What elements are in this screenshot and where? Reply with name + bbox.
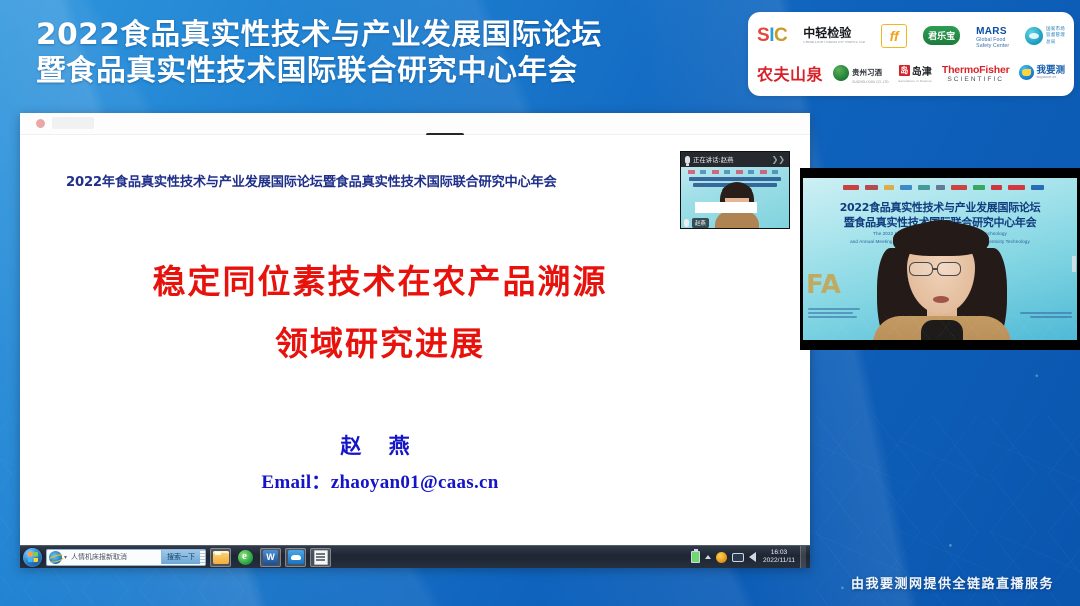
zhongqing-jianyan-logo-sub: CHINA LIGHT INDUSTRY INSPECTION CERTIFIC… xyxy=(803,41,865,44)
search-button[interactable]: 搜索一下 xyxy=(161,550,200,564)
pip-redaction-bar xyxy=(695,202,757,213)
taskbar-item-cloud[interactable] xyxy=(285,548,306,567)
guizhou-xijiu-logo-sub: GUIZHOU XIJIU CO.,LTD xyxy=(852,80,889,84)
event-title: 2022食品真实性技术与产业发展国际论坛 暨食品真实性技术国际联合研究中心年会 xyxy=(36,16,750,88)
guizhou-xijiu-logo: 贵州习酒 GUIZHOU XIJIU CO.,LTD xyxy=(833,56,889,89)
cloud-icon xyxy=(288,550,304,564)
speaker-mouth xyxy=(933,296,949,303)
windows-taskbar[interactable]: ▾ 人情机床报新取消 搜索一下 W xyxy=(20,545,810,568)
record-dot-icon xyxy=(36,119,45,128)
junlebao-logo-cn: 君乐宝 xyxy=(923,26,960,45)
pip-person-body xyxy=(715,211,759,229)
teal-partner-logo-line2: 监督管理 xyxy=(1046,32,1065,39)
ff-logo: ff xyxy=(881,19,907,52)
sic-logo: SIC xyxy=(757,19,787,52)
slide-title: 稳定同位素技术在农产品溯源 领域研究进展 xyxy=(20,251,740,375)
woyaoce-logo: 我要测 woyaoce.cn xyxy=(1019,56,1065,89)
clock-time: 16:03 xyxy=(763,549,795,557)
event-title-line2: 暨食品真实性技术国际联合研究中心年会 xyxy=(36,52,750,88)
clock-date: 2022/11/11 xyxy=(763,557,795,565)
word-icon: W xyxy=(263,550,278,565)
teal-partner-logo-circle-icon xyxy=(1025,27,1043,45)
speaker-backdrop-title-line1: 2022食品真实性技术与产业发展国际论坛 xyxy=(829,199,1051,215)
livestream-watermark: 由我要测网提供全链路直播服务 xyxy=(851,573,1054,592)
speaker-backdrop-logos xyxy=(843,185,1044,190)
internet-explorer-icon xyxy=(49,551,62,564)
pip-speaker-thumbnail[interactable]: 正在讲话:赵燕 ❯❯ 赵燕 xyxy=(680,151,790,229)
taskbar-item-file-explorer[interactable] xyxy=(210,548,231,567)
shared-screen-window[interactable]: 2022年食品真实性技术与产业发展国际论坛暨食品真实性技术国际联合研究中心年会 … xyxy=(20,113,810,568)
browser-e-icon xyxy=(238,550,253,565)
pip-backdrop-logos xyxy=(688,170,782,174)
toolbar-grip-handle[interactable] xyxy=(200,550,205,565)
volume-icon[interactable] xyxy=(749,552,756,562)
zhongqing-jianyan-logo-cn: 中轻检验 xyxy=(803,27,851,39)
show-desktop-button[interactable] xyxy=(800,546,806,568)
sponsor-logo-card: SIC 中轻检验 CHINA LIGHT INDUSTRY INSPECTION… xyxy=(748,12,1074,96)
guizhou-xijiu-logo-cn: 贵州习酒 xyxy=(852,68,882,77)
speaker-glasses-bridge xyxy=(933,268,938,270)
show-hidden-icons-icon[interactable] xyxy=(705,555,711,559)
pip-name-tag: 赵燕 xyxy=(692,218,709,228)
browser-search-bar[interactable]: ▾ 人情机床报新取消 搜索一下 xyxy=(46,549,206,566)
pip-name-overlay: 赵燕 xyxy=(684,218,709,228)
slide-author-name: 赵 燕 xyxy=(20,430,740,460)
taskbar-item-word[interactable]: W xyxy=(260,548,281,567)
pip-video-feed: 赵燕 xyxy=(681,167,790,229)
search-input[interactable]: 人情机床报新取消 xyxy=(69,552,161,562)
taskbar-clock[interactable]: 16:03 2022/11/11 xyxy=(761,549,795,565)
slide-heading: 2022年食品真实性技术与产业发展国际论坛暨食品真实性技术国际联合研究中心年会 xyxy=(66,171,706,190)
chevron-right-icon[interactable]: ❯❯ xyxy=(772,155,785,164)
pip-status-label: 正在讲话:赵燕 xyxy=(693,155,734,164)
nongfu-spring-logo-cn: 农夫山泉 xyxy=(757,61,823,85)
zhongqing-jianyan-logo: 中轻检验 CHINA LIGHT INDUSTRY INSPECTION CER… xyxy=(803,19,865,52)
speaker-backdrop-fa-mark: FA xyxy=(806,270,840,302)
speaker-backdrop-mesh xyxy=(803,314,1077,340)
thermo-fisher-logo: ThermoFisher SCIENTIFIC xyxy=(942,56,1010,89)
pip-person-bangs xyxy=(722,184,752,198)
presentation-chrome-bar xyxy=(20,113,810,135)
sponsor-row-1: SIC 中轻检验 CHINA LIGHT INDUSTRY INSPECTION… xyxy=(757,19,1065,52)
speaker-bangs xyxy=(893,222,989,256)
pip-status-bar: 正在讲话:赵燕 ❯❯ xyxy=(681,152,789,167)
calculator-icon xyxy=(314,550,328,565)
woyaoce-logo-sub: woyaoce.cn xyxy=(1036,75,1065,79)
speaker-glasses-right-lens xyxy=(937,262,961,276)
junlebao-logo: 君乐宝 xyxy=(923,19,960,52)
sic-logo-letter-s: S xyxy=(757,25,769,47)
shimadzu-logo: 岛 岛津 Excellence in Science xyxy=(899,56,932,89)
system-tray[interactable]: 16:03 2022/11/11 xyxy=(691,546,810,568)
taskbar-item-calculator[interactable] xyxy=(310,548,331,567)
event-header: 2022食品真实性技术与产业发展国际论坛 暨食品真实性技术国际联合研究中心年会 … xyxy=(0,0,1080,108)
sic-logo-letter-c: C xyxy=(774,25,787,47)
pip-microphone-icon xyxy=(684,219,689,227)
start-button-icon[interactable] xyxy=(23,548,42,567)
sponsor-row-2: 农夫山泉 贵州习酒 GUIZHOU XIJIU CO.,LTD 岛 岛津 Exc… xyxy=(757,56,1065,89)
taskbar-item-browser[interactable] xyxy=(235,548,256,567)
network-icon[interactable] xyxy=(732,553,744,562)
guizhou-xijiu-logo-circle-icon xyxy=(833,65,849,81)
woyaoce-logo-circle-icon xyxy=(1019,65,1034,80)
speaker-video-feed: 2022食品真实性技术与产业发展国际论坛 暨食品真实性技术国际联合研究中心年会 … xyxy=(803,178,1077,340)
slide-title-line2: 领域研究进展 xyxy=(20,313,740,375)
shimadzu-logo-cn: 岛津 xyxy=(912,63,932,78)
woyaoce-logo-cn: 我要测 xyxy=(1036,66,1065,76)
presentation-slide: 2022年食品真实性技术与产业发展国际论坛暨食品真实性技术国际联合研究中心年会 … xyxy=(20,135,810,545)
thermo-fisher-logo-title: ThermoFisher xyxy=(942,64,1010,76)
event-title-line1: 2022食品真实性技术与产业发展国际论坛 xyxy=(36,16,750,52)
teal-partner-logo-line3: 总局 xyxy=(1046,39,1065,46)
pip-backdrop-title-line1 xyxy=(689,177,781,181)
video-scroll-nub[interactable] xyxy=(1072,256,1076,272)
microphone-icon xyxy=(685,156,690,164)
thermo-fisher-logo-sub: SCIENTIFIC xyxy=(942,77,1010,84)
mars-gfsc-logo: MARS Global Food Safety Center xyxy=(976,19,1009,52)
mars-gfsc-logo-title: MARS xyxy=(976,26,1007,37)
teal-partner-logo: 国家市场 监督管理 总局 xyxy=(1025,19,1065,52)
action-center-icon[interactable] xyxy=(716,552,727,563)
slide-title-line1: 稳定同位素技术在农产品溯源 xyxy=(20,251,740,313)
slide-author-email: Email：zhaoyan01@caas.cn xyxy=(20,467,740,494)
folder-icon xyxy=(213,551,229,564)
shimadzu-logo-mark: 岛 xyxy=(899,65,910,76)
ff-logo-mark: ff xyxy=(881,24,907,48)
speaker-video-panel[interactable]: 2022食品真实性技术与产业发展国际论坛 暨食品真实性技术国际联合研究中心年会 … xyxy=(800,168,1080,350)
mars-gfsc-logo-sub2: Safety Center xyxy=(976,44,1009,49)
nongfu-spring-logo: 农夫山泉 xyxy=(757,56,823,89)
battery-icon[interactable] xyxy=(691,551,700,563)
speaker-glasses-left-lens xyxy=(909,262,933,276)
livestream-screenshot: 2022食品真实性技术与产业发展国际论坛 暨食品真实性技术国际联合研究中心年会 … xyxy=(0,0,1080,606)
chrome-pill-placeholder xyxy=(52,117,94,129)
shimadzu-logo-sub: Excellence in Science xyxy=(899,79,932,83)
